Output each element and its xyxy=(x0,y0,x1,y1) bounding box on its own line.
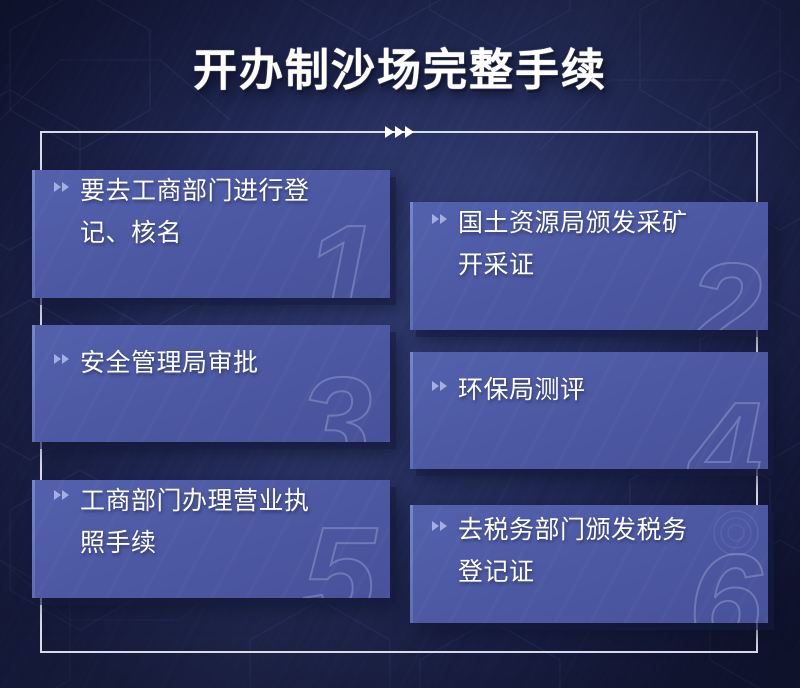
infographic-canvas: 开办制沙场完整手续 要去工商部门进行登 记、核名 1 国土资源局颁发采矿 开采证… xyxy=(0,0,800,688)
arrow-glyph xyxy=(385,126,394,138)
step-card-5[interactable]: 工商部门办理营业执 照手续 5 xyxy=(32,480,390,598)
step-label: 工商部门办理营业执 照手续 xyxy=(80,480,310,564)
double-right-arrow-icon xyxy=(432,214,447,224)
step-card-4[interactable]: 环保局测评 4 xyxy=(410,352,768,469)
step-label: 国土资源局颁发采矿 开采证 xyxy=(458,202,688,286)
step-label: 去税务部门颁发税务 登记证 xyxy=(458,509,688,593)
arrow-glyph xyxy=(405,126,414,138)
step-label: 环保局测评 xyxy=(458,369,586,411)
step-card-3[interactable]: 安全管理局审批 3 xyxy=(32,325,390,442)
step-card-6[interactable]: 去税务部门颁发税务 登记证 6 xyxy=(410,505,768,623)
step-label: 安全管理局审批 xyxy=(80,342,259,384)
double-right-arrow-icon xyxy=(432,521,447,531)
page-title: 开办制沙场完整手续 xyxy=(0,34,800,98)
double-right-arrow-icon xyxy=(54,490,69,500)
double-right-arrow-icon xyxy=(54,182,69,192)
step-card-1[interactable]: 要去工商部门进行登 记、核名 1 xyxy=(32,170,390,298)
triple-right-arrow-icon xyxy=(385,124,425,140)
double-right-arrow-icon xyxy=(432,381,447,391)
step-card-2[interactable]: 国土资源局颁发采矿 开采证 2 xyxy=(410,202,768,330)
step-label: 要去工商部门进行登 记、核名 xyxy=(80,170,310,254)
arrow-glyph xyxy=(395,126,404,138)
double-right-arrow-icon xyxy=(54,354,69,364)
